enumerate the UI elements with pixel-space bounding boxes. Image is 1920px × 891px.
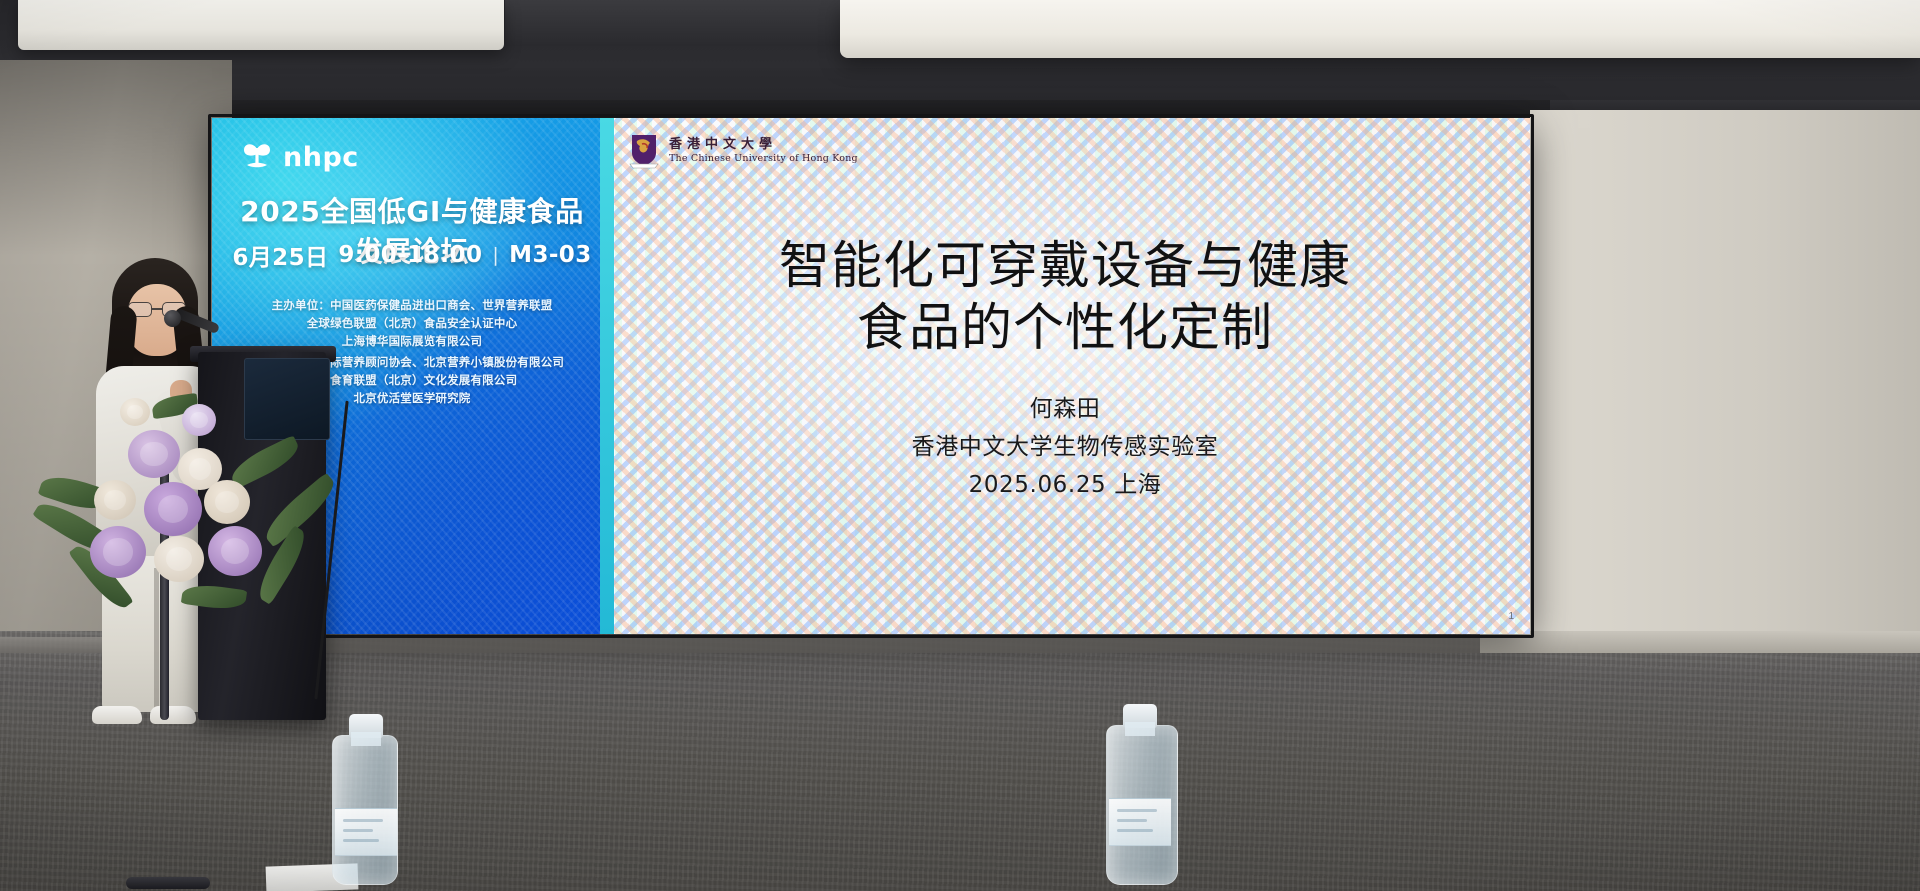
microphone-head <box>164 310 181 327</box>
ceiling-light-cove-left <box>18 0 504 50</box>
slide-presenter-block: 何森田 香港中文大学生物传感实验室 2025.06.25 上海 <box>660 390 1470 504</box>
meta-separator: | <box>492 244 499 266</box>
right-wall <box>1530 110 1920 670</box>
slide-page-number: 1 <box>1508 611 1514 622</box>
slide-date-location: 2025.06.25 上海 <box>660 466 1470 504</box>
cuhk-logo: 香港中文大學 The Chinese University of Hong Ko… <box>628 132 858 170</box>
nhpc-logo: nhpc <box>240 140 359 174</box>
organizer-line-1: 主办单位：中国医药保健品进出口商会、世界营养联盟 <box>226 296 598 314</box>
label-line <box>343 829 373 832</box>
cuhk-name-cn: 香港中文大學 <box>669 137 858 153</box>
speaker-shoe-right <box>150 706 196 724</box>
cuhk-name-en: The Chinese University of Hong Kong <box>669 153 858 165</box>
ceiling-seam <box>505 0 841 46</box>
presenter-name: 何森田 <box>660 390 1470 428</box>
slide-light-wash <box>600 118 1530 634</box>
rose-light <box>182 404 216 436</box>
label-line <box>1117 819 1147 822</box>
ceiling-light-cove-right <box>840 0 1920 58</box>
forum-time: 9:00-18:00 <box>338 242 482 268</box>
water-bottle <box>332 735 398 885</box>
butterfly-mark-icon <box>240 140 274 174</box>
label-line <box>343 819 383 822</box>
rose-cream <box>120 398 150 426</box>
slide-title-line-1: 智能化可穿戴设备与健康 <box>660 236 1470 298</box>
slide-title: 智能化可穿戴设备与健康 食品的个性化定制 <box>660 236 1470 360</box>
mic-stand-base <box>126 877 210 889</box>
presentation-slide-panel: 香港中文大學 The Chinese University of Hong Ko… <box>600 118 1530 634</box>
rose-cream <box>204 480 250 524</box>
rose-purple <box>90 526 146 578</box>
conference-room-scene: nhpc 2025全国低GI与健康食品发展论坛 6月25日 9:00-18:00… <box>0 0 1920 891</box>
bottle-label <box>335 808 397 856</box>
rose-purple <box>144 482 202 536</box>
rose-cream <box>154 536 204 582</box>
water-bottle <box>1106 725 1178 885</box>
label-line <box>1117 829 1153 832</box>
label-line <box>343 839 379 842</box>
slide-title-line-2: 食品的个性化定制 <box>660 298 1470 360</box>
bottle-neck <box>1125 722 1155 736</box>
bottle-neck <box>351 732 381 746</box>
glasses-bridge <box>152 308 162 310</box>
label-line <box>1117 809 1157 812</box>
bottle-label <box>1109 798 1171 846</box>
leaf <box>226 435 303 489</box>
flower-arrangement <box>32 330 362 670</box>
leaf <box>181 582 247 613</box>
nhpc-wordmark: nhpc <box>283 142 359 173</box>
slide-left-edge <box>600 118 614 634</box>
rose-purple <box>208 526 262 576</box>
cuhk-crest-icon <box>628 132 660 170</box>
rose-cream <box>94 480 136 520</box>
right-wall-base <box>1480 631 1920 653</box>
rose-purple <box>128 430 180 478</box>
presenter-affiliation: 香港中文大学生物传感实验室 <box>660 428 1470 466</box>
cuhk-logo-text: 香港中文大學 The Chinese University of Hong Ko… <box>669 137 858 165</box>
speaker-shoe-left <box>92 706 142 724</box>
forum-booth: M3-03 <box>509 242 591 268</box>
led-video-wall: nhpc 2025全国低GI与健康食品发展论坛 6月25日 9:00-18:00… <box>212 118 1530 634</box>
forum-meta: 6月25日 9:00-18:00 | M3-03 <box>232 238 592 272</box>
